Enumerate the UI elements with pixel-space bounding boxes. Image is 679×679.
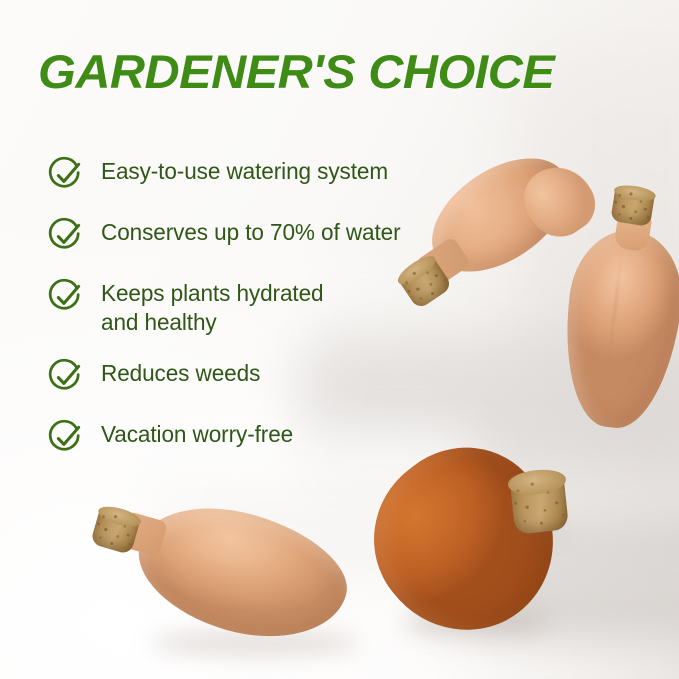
- check-circle-icon: [45, 417, 87, 459]
- page-title: GARDENER'S CHOICE: [38, 44, 679, 100]
- list-item: Easy-to-use watering system: [45, 152, 445, 196]
- cork-stopper-loose: [505, 467, 573, 535]
- spike-body: [124, 487, 360, 659]
- terracotta-watering-spike-vertical: [558, 186, 679, 436]
- list-item-label: Keeps plants hydrated and healthy: [101, 274, 323, 337]
- check-circle-icon: [45, 356, 87, 398]
- terracotta-watering-spike-horizontal: [92, 494, 362, 654]
- list-item: Conserves up to 70% of water: [45, 213, 445, 257]
- feature-list: Easy-to-use watering system Conserves up…: [45, 152, 445, 476]
- spike-body: [339, 414, 590, 665]
- list-item-label: Reduces weeds: [101, 354, 260, 388]
- list-item: Reduces weeds: [45, 354, 445, 398]
- list-item-label: Conserves up to 70% of water: [101, 213, 401, 247]
- product-feature-graphic: GARDENER'S CHOICE Easy-to-use watering s…: [0, 0, 679, 679]
- check-circle-icon: [45, 276, 87, 318]
- list-item-label: Easy-to-use watering system: [101, 152, 388, 186]
- list-item-label: Vacation worry-free: [101, 415, 293, 449]
- check-circle-icon: [45, 154, 87, 196]
- cork-stopper: [607, 183, 658, 228]
- list-item: Keeps plants hydrated and healthy: [45, 274, 445, 337]
- spike-body: [554, 224, 679, 434]
- check-circle-icon: [45, 215, 87, 257]
